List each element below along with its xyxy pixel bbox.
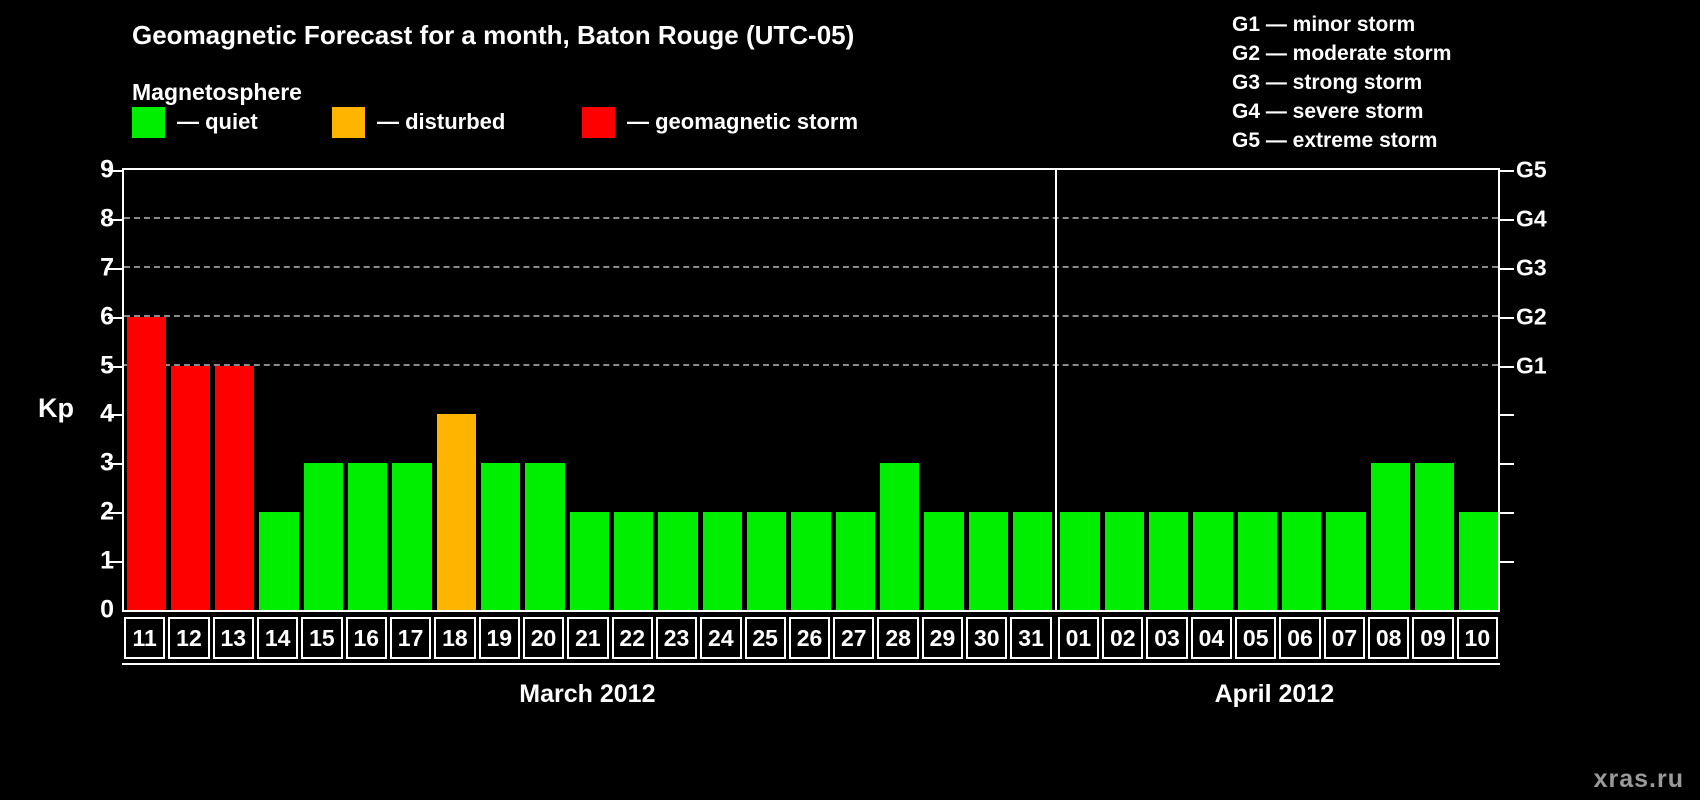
y-tick-mark-2: [108, 512, 122, 514]
day-label-12: 12: [176, 627, 202, 650]
day-box-28[interactable]: 28: [877, 617, 918, 659]
day-box-19[interactable]: 19: [479, 617, 520, 659]
day-box-01[interactable]: 01: [1058, 617, 1099, 659]
g-tick-label-G1: G1: [1516, 352, 1547, 379]
g-axis-minor-tick-2: [1500, 512, 1514, 514]
bar-day-13[interactable]: [215, 366, 254, 610]
page-title: Geomagnetic Forecast for a month, Baton …: [132, 20, 854, 51]
bar-day-11[interactable]: [127, 317, 166, 610]
legend-swatch-quiet: [132, 107, 165, 138]
day-box-30[interactable]: 30: [966, 617, 1007, 659]
day-label-30: 30: [974, 627, 1000, 650]
day-label-06: 06: [1287, 627, 1313, 650]
legend-swatch-storm: [582, 107, 615, 138]
g-tick-label-G2: G2: [1516, 303, 1547, 330]
day-box-20[interactable]: 20: [523, 617, 564, 659]
day-box-11[interactable]: 11: [124, 617, 165, 659]
day-box-27[interactable]: 27: [833, 617, 874, 659]
day-label-22: 22: [619, 627, 645, 650]
g-legend-row-4: G4 — severe storm: [1232, 97, 1451, 126]
day-label-17: 17: [398, 627, 424, 650]
day-label-26: 26: [797, 627, 823, 650]
watermark: xras.ru: [1594, 765, 1684, 794]
bar-day-31[interactable]: [1013, 512, 1052, 610]
g-tick-label-G4: G4: [1516, 205, 1547, 232]
day-box-22[interactable]: 22: [612, 617, 653, 659]
magnetosphere-label: Magnetosphere: [132, 79, 302, 106]
month-caption-april: April 2012: [1053, 680, 1496, 709]
day-box-05[interactable]: 05: [1235, 617, 1276, 659]
g-tick-label-G5: G5: [1516, 157, 1547, 184]
g-scale-legend: G1 — minor stormG2 — moderate stormG3 — …: [1232, 10, 1451, 155]
day-label-10: 10: [1465, 627, 1491, 650]
day-label-14: 14: [265, 627, 291, 650]
bar-day-17[interactable]: [392, 463, 431, 610]
bar-day-12[interactable]: [171, 366, 210, 610]
day-label-24: 24: [708, 627, 734, 650]
plot-area: [122, 168, 1500, 612]
day-box-12[interactable]: 12: [168, 617, 209, 659]
legend-item-quiet: — quiet: [132, 107, 258, 138]
bar-day-14[interactable]: [259, 512, 298, 610]
y-tick-mark-4: [108, 414, 122, 416]
day-label-11: 11: [132, 627, 156, 650]
day-label-21: 21: [575, 627, 601, 650]
y-tick-mark-9: [108, 170, 122, 172]
bar-day-25[interactable]: [747, 512, 786, 610]
g-tick-label-G3: G3: [1516, 254, 1547, 281]
g-tick-mark-G2: [1500, 317, 1514, 319]
y-tick-label-0: 0: [74, 596, 114, 625]
day-label-08: 08: [1376, 627, 1402, 650]
legend-label-quiet: — quiet: [177, 109, 258, 135]
bar-day-24[interactable]: [703, 512, 742, 610]
day-box-02[interactable]: 02: [1102, 617, 1143, 659]
day-box-13[interactable]: 13: [213, 617, 254, 659]
day-box-23[interactable]: 23: [656, 617, 697, 659]
day-label-05: 05: [1243, 627, 1269, 650]
day-box-06[interactable]: 06: [1279, 617, 1320, 659]
bar-day-29[interactable]: [924, 512, 963, 610]
day-box-25[interactable]: 25: [745, 617, 786, 659]
day-label-02: 02: [1110, 627, 1136, 650]
y-tick-mark-8: [108, 219, 122, 221]
day-box-29[interactable]: 29: [922, 617, 963, 659]
bar-day-27[interactable]: [836, 512, 875, 610]
day-label-23: 23: [664, 627, 690, 650]
g-axis-minor-tick-3: [1500, 463, 1514, 465]
legend-swatch-disturbed: [332, 107, 365, 138]
day-box-31[interactable]: 31: [1010, 617, 1051, 659]
day-label-04: 04: [1199, 627, 1225, 650]
day-label-03: 03: [1154, 627, 1180, 650]
bar-day-04[interactable]: [1193, 512, 1232, 610]
bar-day-07[interactable]: [1326, 512, 1365, 610]
day-box-08[interactable]: 08: [1368, 617, 1409, 659]
day-label-29: 29: [930, 627, 956, 650]
bar-day-20[interactable]: [525, 463, 564, 610]
legend-label-disturbed: — disturbed: [377, 109, 505, 135]
day-label-15: 15: [309, 627, 335, 650]
legend-label-storm: — geomagnetic storm: [627, 109, 858, 135]
bar-day-28[interactable]: [880, 463, 919, 610]
day-box-26[interactable]: 26: [789, 617, 830, 659]
y-tick-mark-7: [108, 268, 122, 270]
y-tick-mark-5: [108, 366, 122, 368]
g-tick-mark-G4: [1500, 219, 1514, 221]
day-box-18[interactable]: 18: [434, 617, 475, 659]
bar-day-02[interactable]: [1105, 512, 1144, 610]
day-label-16: 16: [353, 627, 379, 650]
bar-day-09[interactable]: [1415, 463, 1454, 610]
legend-item-storm: — geomagnetic storm: [582, 107, 858, 138]
bar-day-10[interactable]: [1459, 512, 1498, 610]
day-label-09: 09: [1420, 627, 1446, 650]
bar-day-18[interactable]: [437, 414, 476, 610]
g-tick-mark-G3: [1500, 268, 1514, 270]
day-label-31: 31: [1018, 627, 1044, 650]
day-label-07: 07: [1332, 627, 1358, 650]
day-label-18: 18: [442, 627, 468, 650]
bar-day-15[interactable]: [304, 463, 343, 610]
bar-day-06[interactable]: [1282, 512, 1321, 610]
g-axis-minor-tick-1: [1500, 561, 1514, 563]
day-box-17[interactable]: 17: [390, 617, 431, 659]
g-legend-row-1: G1 — minor storm: [1232, 10, 1451, 39]
g-tick-mark-G5: [1500, 170, 1514, 172]
g-legend-row-3: G3 — strong storm: [1232, 68, 1451, 97]
day-axis: 1112131415161718192021222324252627282930…: [122, 617, 1500, 659]
day-label-01: 01: [1066, 627, 1092, 650]
day-box-15[interactable]: 15: [301, 617, 342, 659]
bar-day-03[interactable]: [1149, 512, 1188, 610]
day-box-10[interactable]: 10: [1457, 617, 1498, 659]
g-tick-mark-G1: [1500, 366, 1514, 368]
y-tick-mark-6: [108, 317, 122, 319]
legend-item-disturbed: — disturbed: [332, 107, 505, 138]
day-label-25: 25: [752, 627, 778, 650]
bar-day-19[interactable]: [481, 463, 520, 610]
day-box-09[interactable]: 09: [1412, 617, 1453, 659]
day-label-20: 20: [531, 627, 557, 650]
y-tick-mark-3: [108, 463, 122, 465]
bar-day-26[interactable]: [791, 512, 830, 610]
g-axis-minor-tick-4: [1500, 414, 1514, 416]
day-label-13: 13: [221, 627, 247, 650]
bar-day-30[interactable]: [969, 512, 1008, 610]
bar-day-23[interactable]: [658, 512, 697, 610]
bar-day-05[interactable]: [1238, 512, 1277, 610]
day-axis-underline: [122, 663, 1500, 665]
y-axis-title: Kp: [38, 393, 74, 424]
day-box-04[interactable]: 04: [1191, 617, 1232, 659]
y-tick-mark-1: [108, 561, 122, 563]
bar-day-01[interactable]: [1060, 512, 1099, 610]
month-divider-line: [1055, 170, 1057, 610]
bars-layer: [124, 170, 1498, 610]
bar-day-22[interactable]: [614, 512, 653, 610]
day-box-16[interactable]: 16: [346, 617, 387, 659]
day-box-03[interactable]: 03: [1146, 617, 1187, 659]
day-label-27: 27: [841, 627, 867, 650]
bar-day-16[interactable]: [348, 463, 387, 610]
day-label-19: 19: [486, 627, 512, 650]
day-box-21[interactable]: 21: [567, 617, 608, 659]
day-box-07[interactable]: 07: [1324, 617, 1365, 659]
g-legend-row-2: G2 — moderate storm: [1232, 39, 1451, 68]
day-box-14[interactable]: 14: [257, 617, 298, 659]
day-box-24[interactable]: 24: [700, 617, 741, 659]
day-label-28: 28: [885, 627, 911, 650]
bar-day-08[interactable]: [1371, 463, 1410, 610]
month-caption-march: March 2012: [122, 680, 1053, 709]
plot-inner: [124, 170, 1498, 610]
bar-day-21[interactable]: [570, 512, 609, 610]
g-legend-row-5: G5 — extreme storm: [1232, 126, 1451, 155]
